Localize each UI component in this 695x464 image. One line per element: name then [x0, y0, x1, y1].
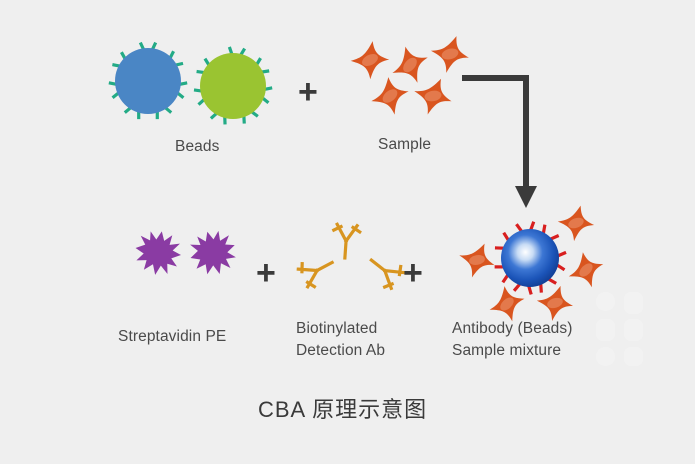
detection-ab-2 [297, 251, 338, 289]
streptavidin-pe-molecules [132, 225, 240, 281]
label-detection-ab-line1: Biotinylated [296, 318, 385, 340]
label-detection-ab: Biotinylated Detection Ab [296, 318, 385, 362]
complex-bead-body [501, 229, 559, 287]
process-arrow [460, 70, 540, 215]
plus-operator-row2-right: + [403, 256, 423, 290]
plus-operator-row2-left: + [256, 256, 276, 290]
antigen-4 [369, 75, 410, 116]
bead-body-green [200, 53, 266, 119]
antigen-2 [387, 42, 433, 88]
arrow-shaft [462, 78, 526, 190]
figure-canvas: + Beads Sample [0, 0, 695, 464]
bead-antibody-antigen-complex [455, 198, 615, 323]
label-streptavidin-pe: Streptavidin PE [118, 328, 226, 346]
bead-body-blue [115, 48, 181, 114]
streptavidin-2 [185, 226, 241, 280]
figure-title: CBA 原理示意图 [258, 392, 427, 424]
antigen-1 [349, 39, 392, 82]
label-sample: Sample [378, 136, 431, 154]
label-beads: Beads [175, 138, 219, 156]
label-detection-ab-line2: Detection Ab [296, 340, 385, 362]
label-mixture: Antibody (Beads) Sample mixture [452, 318, 573, 362]
label-mixture-line2: Sample mixture [452, 340, 573, 362]
complex-antigen-2 [565, 249, 607, 291]
complex-antigen-1 [554, 201, 598, 245]
complex-antigen-3 [453, 236, 501, 284]
sample-antigens [345, 34, 465, 124]
detection-ab-3 [363, 250, 405, 291]
detection-ab-1 [332, 224, 360, 259]
antibody-coated-bead-green [181, 34, 285, 138]
plus-operator-row1: + [298, 75, 318, 109]
biotinylated-detection-antibodies [300, 218, 412, 288]
streptavidin-1 [132, 227, 185, 278]
label-mixture-line1: Antibody (Beads) [452, 318, 573, 340]
